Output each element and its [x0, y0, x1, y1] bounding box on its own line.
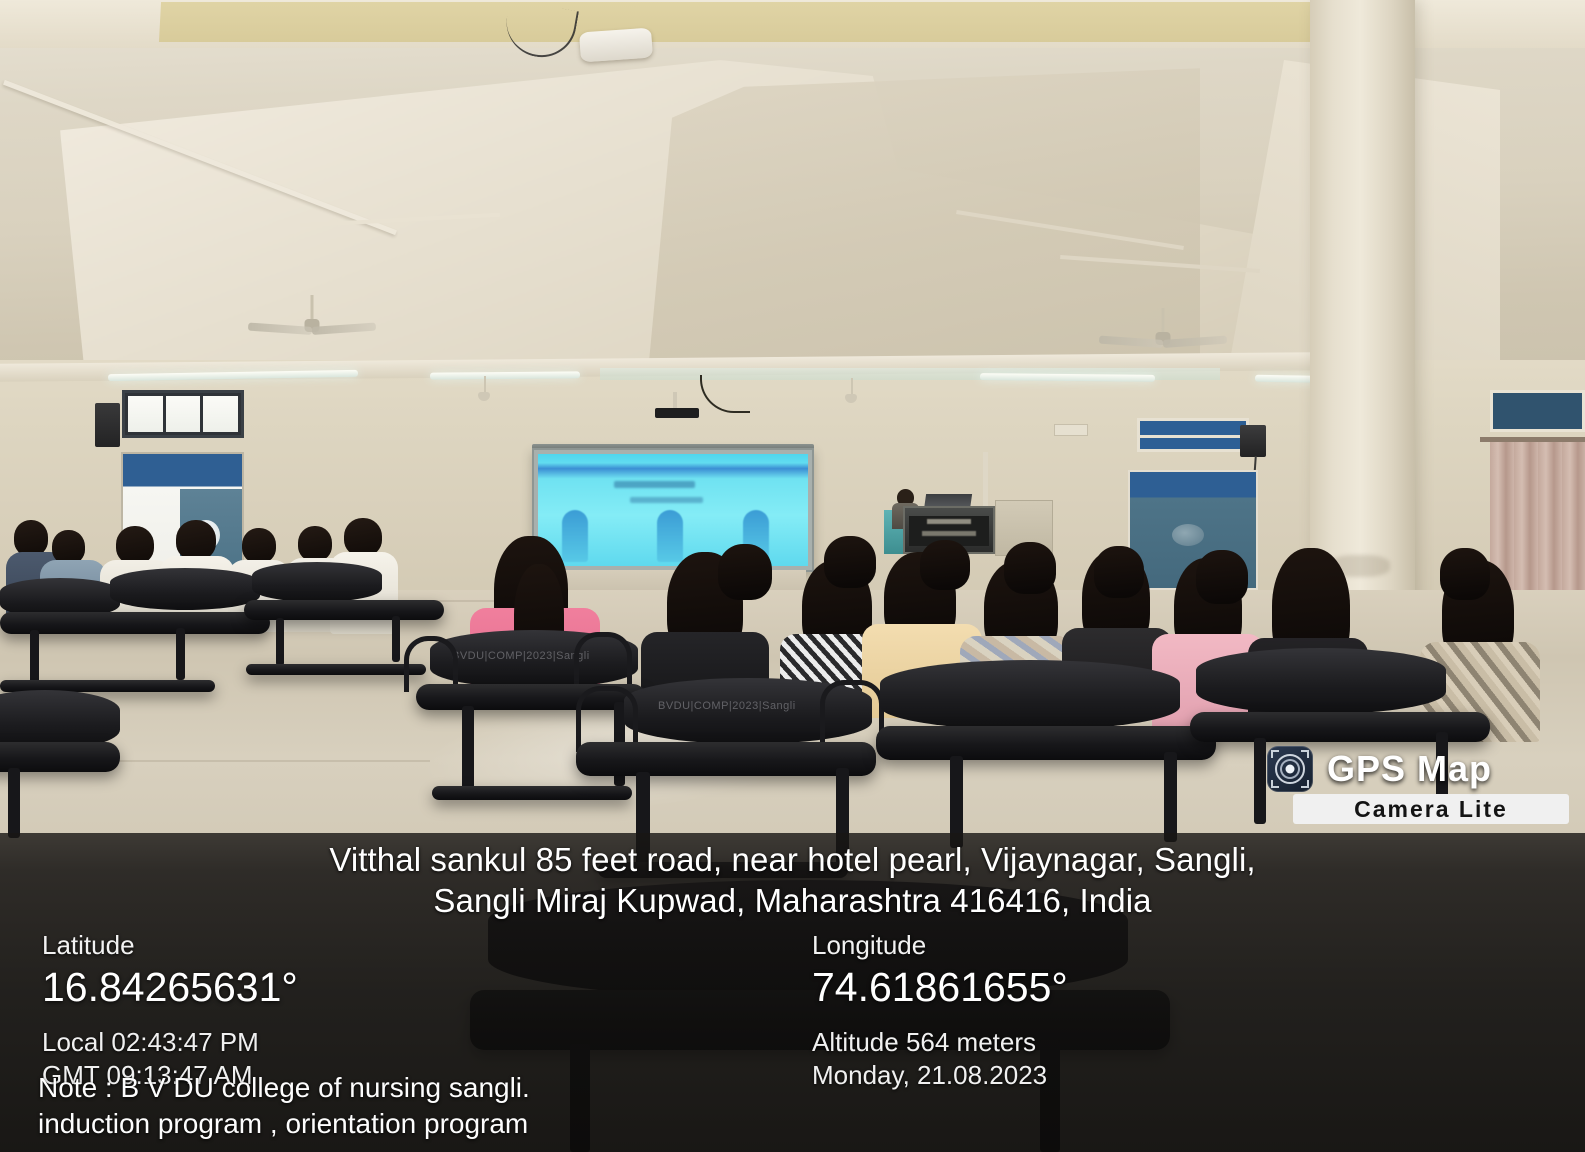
- attendee-back-1: [712, 544, 776, 600]
- gps-info-overlay: Vitthal sankul 85 feet road, near hotel …: [0, 833, 1585, 1152]
- bench-leg-l2: [176, 628, 185, 680]
- attendee-back-7: [1436, 548, 1494, 600]
- attendee-back-3: [916, 540, 974, 590]
- bench-arm-2: [574, 632, 632, 690]
- bench-back-right-1: [880, 660, 1180, 730]
- bench-emboss-2: BVDU|COMP|2023|Sangli: [658, 700, 796, 712]
- ceiling-light-fixture: [579, 28, 653, 63]
- bench-back-left-b: [110, 568, 260, 610]
- attendee-back-4: [1000, 542, 1060, 594]
- longitude-label: Longitude: [812, 929, 1068, 961]
- screenshot-root: BVDU|COMP|2023|Sangli BVDU|COMP|2023|San…: [0, 0, 1585, 1152]
- address-line-1: Vitthal sankul 85 feet road, near hotel …: [60, 839, 1525, 880]
- bench-seat-left-1: [0, 612, 270, 634]
- wall-speaker-right: [1240, 425, 1266, 457]
- note-line-2: induction program , orientation program: [38, 1106, 530, 1142]
- window-right-upper: [1137, 418, 1249, 452]
- watermark-title: GPS Map: [1327, 748, 1492, 790]
- bench-leg-fg-left: [8, 768, 20, 838]
- latitude-column: Latitude 16.84265631° Local 02:43:47 PM …: [42, 929, 298, 1092]
- bench-leg-m1: [462, 706, 474, 792]
- bench-emboss-1: BVDU|COMP|2023|Sangli: [452, 650, 590, 662]
- latitude-value: 16.84265631°: [42, 962, 298, 1012]
- local-time: Local 02:43:47 PM: [42, 1026, 298, 1059]
- bench-leg-l3: [276, 618, 284, 666]
- bench-foot-rail-mid-1: [432, 786, 632, 800]
- bench-leg-l1: [30, 630, 39, 684]
- watermark-title-row: GPS Map: [1253, 745, 1571, 792]
- note-block: Note : B V DU college of nursing sangli.…: [38, 1070, 530, 1142]
- date-value: Monday, 21.08.2023: [812, 1059, 1068, 1092]
- latitude-label: Latitude: [42, 929, 298, 961]
- bench-leg-r2: [1164, 752, 1177, 842]
- watermark-subtitle-chip: Camera Lite: [1293, 794, 1569, 824]
- bench-leg-l4: [392, 616, 400, 662]
- bench-back-left-c: [252, 562, 382, 602]
- longitude-column: Longitude 74.61861655° Altitude 564 mete…: [812, 929, 1068, 1092]
- ceiling-fan-right: [1098, 308, 1228, 358]
- bench-back-right-2: [1196, 648, 1446, 714]
- gps-camera-lens-icon: [1267, 746, 1313, 792]
- note-line-1: Note : B V DU college of nursing sangli.: [38, 1070, 530, 1106]
- bench-seat-left-2: [244, 600, 444, 620]
- address-line-2: Sangli Miraj Kupwad, Maharashtra 416416,…: [60, 880, 1525, 921]
- wall-pipe: [983, 452, 988, 506]
- wall-switch-plate: [1054, 424, 1088, 436]
- address-block: Vitthal sankul 85 feet road, near hotel …: [0, 839, 1585, 921]
- longitude-value: 74.61861655°: [812, 962, 1068, 1012]
- ceiling-yellow-band: [159, 2, 1341, 42]
- bench-foot-rail-left-2: [246, 664, 426, 675]
- attendee-back-2: [820, 536, 880, 588]
- ceiling-projector: [655, 408, 699, 418]
- gps-map-camera-watermark: GPS Map Camera Lite: [1253, 745, 1571, 827]
- watermark-subtitle: Camera Lite: [1354, 796, 1508, 823]
- clerestory-window-left: [122, 390, 244, 438]
- attendee-back-5: [1090, 546, 1148, 598]
- attendee-back-6: [1192, 550, 1252, 604]
- ceiling-fan-left: [247, 295, 377, 345]
- window-far-right: [1490, 390, 1585, 432]
- tube-light-2: [430, 371, 580, 379]
- bench-back-foreground-left: [0, 690, 120, 750]
- wall-speaker-left: [95, 403, 120, 447]
- bench-arm-4: [820, 680, 884, 746]
- bench-seat-mid-2: [576, 742, 876, 776]
- altitude-value: Altitude 564 meters: [812, 1026, 1068, 1059]
